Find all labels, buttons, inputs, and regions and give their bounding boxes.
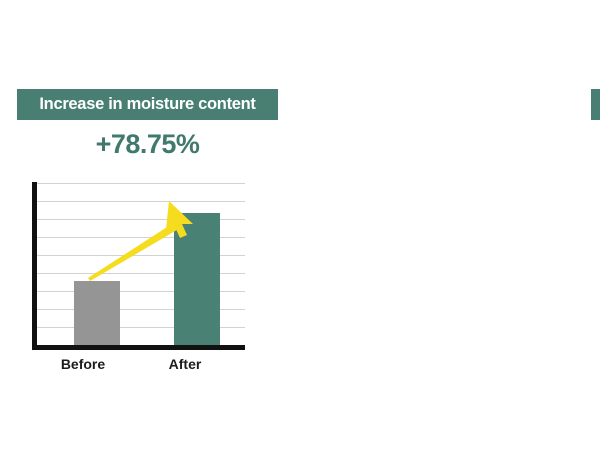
panel-header-label: Increase in moisture content [39,96,255,113]
x-tick-label-after: After [150,357,220,371]
bar-chart-moisture-content [30,180,245,350]
bar-after [174,213,220,345]
bar-before [74,281,120,345]
gridline [37,201,245,202]
x-tick-label-before: Before [48,357,118,371]
panel-header-internal-hydration: Improvement in internal hydration [591,89,600,120]
y-axis [32,182,37,350]
metric-panel-internal-hydration: Improvement in internal hydration +8.58% [300,0,600,450]
stat-value-internal-hydration: +8.58% [591,131,600,158]
x-axis [32,345,245,350]
gridline [37,183,245,184]
plot-area [30,180,245,350]
metric-panel-moisture-content: Increase in moisture content +78.75% [0,0,300,450]
stat-value-moisture-content: +78.75% [17,131,278,158]
panel-header-moisture-content: Increase in moisture content [17,89,278,120]
infographic-canvas: Increase in moisture content +78.75% [0,0,600,450]
